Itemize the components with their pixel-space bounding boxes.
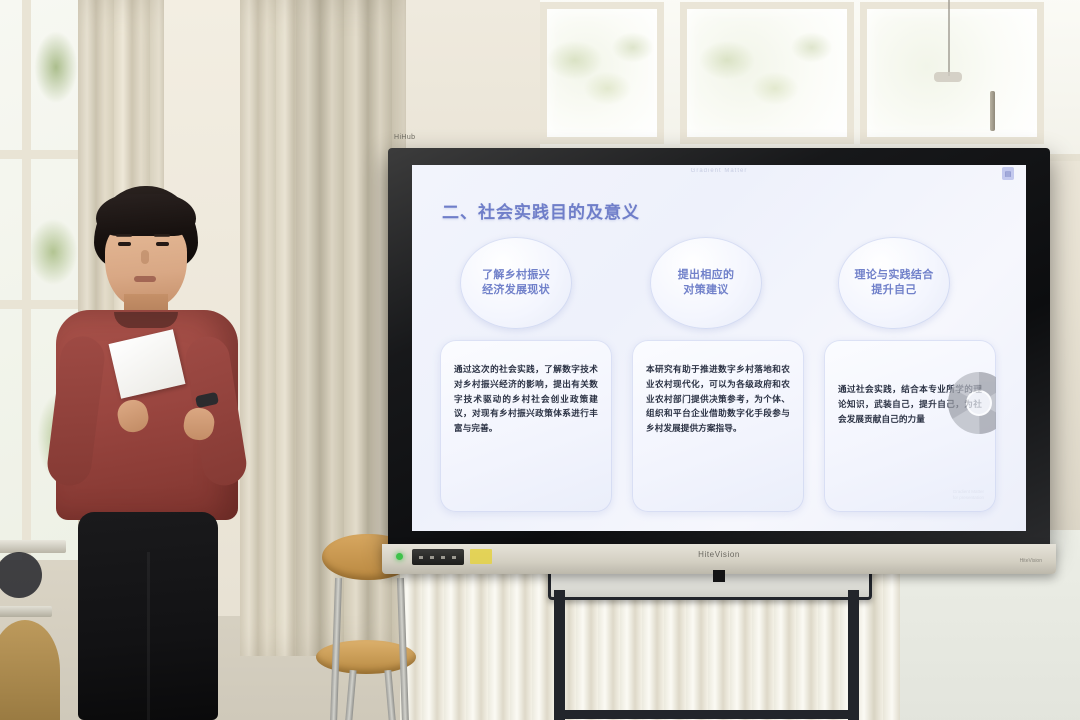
text-box-row: 通过这次的社会实践，了解数字技术对乡村振兴经济的影响，提出有关数字技术驱动的乡村…: [432, 340, 1008, 515]
circle-1: 了解乡村振兴 经济发展现状: [460, 237, 572, 329]
slide-topbar: Gradient Matter ▤: [412, 165, 1026, 181]
eye: [118, 242, 131, 246]
text-box-2: 本研究有助于推进数字乡村落地和农业农村现代化，可以为各级政府和农业农村部门提供决…: [632, 340, 804, 512]
curtain-middle: [240, 0, 302, 656]
slide-watermark: Gradient Matter: [691, 168, 748, 174]
display-screen[interactable]: Gradient Matter ▤ 二、社会实践目的及意义 了解乡村振兴 经济发…: [412, 165, 1026, 531]
slide-footer-watermark: Gradient Matter for presentation: [953, 489, 984, 503]
circle-2: 提出相应的 对策建议: [650, 237, 762, 329]
mouth: [134, 276, 156, 282]
presenter-pants: [78, 512, 218, 720]
interactive-flat-panel[interactable]: HiHub Gradient Matter ▤ 二、社会实践目的及意义 了解乡村…: [388, 148, 1050, 548]
window-handle[interactable]: [990, 91, 995, 131]
podium-leg: [554, 590, 565, 720]
eyebrow: [116, 234, 132, 237]
window-foliage: [547, 9, 657, 137]
window-transom: [0, 150, 84, 159]
presenter-fringe: [96, 194, 196, 236]
window-foliage: [687, 9, 847, 137]
text-box-1: 通过这次的社会实践，了解数字技术对乡村振兴经济的影响，提出有关数字技术驱动的乡村…: [440, 340, 612, 512]
text-box-3: 通过社会实践，结合本专业所学的理论知识，武装自己，提升自己，为社会发展贡献自己的…: [824, 340, 996, 512]
presentation-slide[interactable]: Gradient Matter ▤ 二、社会实践目的及意义 了解乡村振兴 经济发…: [412, 165, 1026, 531]
circle-3: 理论与实践结合 提升自己: [838, 237, 950, 329]
ir-sensor-icon: [713, 570, 725, 582]
display-top-label: HiHub: [394, 134, 415, 141]
text-box-1-body: 通过这次的社会实践，了解数字技术对乡村振兴经济的影响，提出有关数字技术驱动的乡村…: [440, 340, 612, 436]
document-icon[interactable]: ▤: [1002, 167, 1014, 180]
eyebrow: [154, 234, 170, 237]
window-pane: [540, 2, 664, 144]
slide-title: 二、社会实践目的及意义: [442, 198, 640, 223]
display-chin: HiteVision HiteVision: [382, 544, 1056, 574]
ceiling-lamp: [934, 72, 962, 82]
power-led-icon: [396, 553, 403, 560]
podium-leg: [848, 590, 859, 720]
podium: [540, 560, 870, 720]
circle-1-label: 了解乡村振兴 经济发展现状: [482, 268, 550, 298]
chair-leg: [342, 670, 356, 720]
shirt-collar: [114, 312, 178, 328]
text-box-2-body: 本研究有助于推进数字乡村落地和农业农村现代化，可以为各级政府和农业农村部门提供决…: [632, 340, 804, 436]
circle-row: 了解乡村振兴 经济发展现状 提出相应的 对策建议 理论与实践结合 提升自己: [438, 237, 1000, 329]
upper-windows: [540, 0, 1080, 161]
chair-leg: [384, 670, 398, 720]
eye: [156, 242, 169, 246]
classroom-scene: HiHub Gradient Matter ▤ 二、社会实践目的及意义 了解乡村…: [0, 0, 1080, 720]
window-pane: [680, 2, 854, 144]
wheel-hub: [976, 400, 982, 406]
circle-2-label: 提出相应的 对策建议: [678, 268, 735, 298]
circle-3-label: 理论与实践结合 提升自己: [854, 268, 933, 298]
pants-seam: [147, 552, 150, 720]
presenter: [52, 186, 242, 720]
chin-logo: HiteVision: [1020, 558, 1042, 564]
student-desk: [0, 606, 52, 617]
window-mullion: [22, 0, 31, 560]
nose: [141, 250, 149, 264]
ceiling-wire: [948, 0, 950, 76]
warning-sticker: [470, 549, 492, 564]
control-panel[interactable]: [412, 549, 464, 565]
podium-crossbar: [554, 710, 859, 719]
display-brand: HiteVision: [698, 550, 740, 559]
